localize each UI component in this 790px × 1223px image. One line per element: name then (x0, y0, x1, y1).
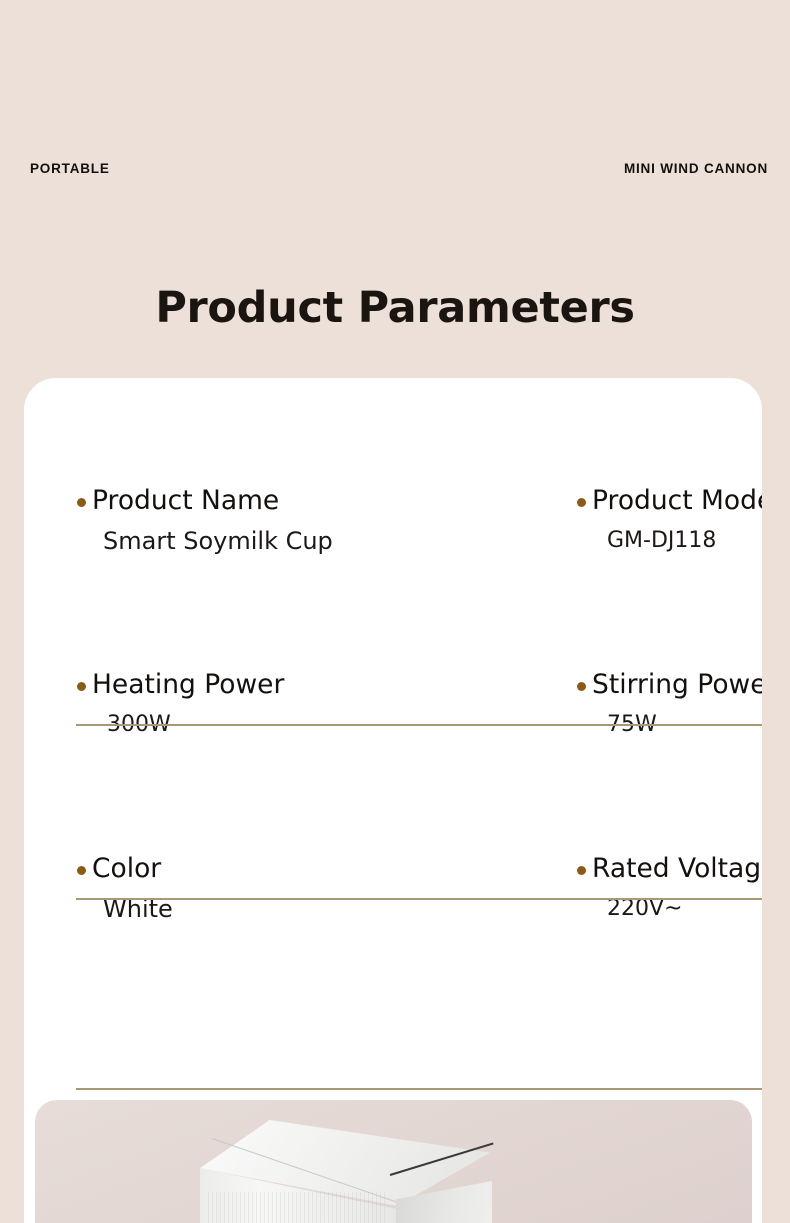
parameter-label: Color (77, 852, 395, 886)
parameter-value: GM-DJ118 (577, 525, 740, 557)
box-corrugation-texture (208, 1192, 388, 1223)
parameter-cell-product-name: Product Name Smart Soymilk Cup (50, 478, 395, 662)
parameter-label: Heating Power (77, 668, 395, 702)
row-divider (76, 898, 762, 900)
parameter-label-text: Color (92, 853, 161, 884)
parameter-label-text: Product Model (592, 485, 762, 516)
bullet-icon (77, 498, 86, 507)
product-photo (35, 1100, 752, 1223)
eyebrow-label-left: PORTABLE (30, 158, 110, 180)
parameter-label: Rated Voltage (577, 852, 740, 886)
row-divider (76, 1088, 762, 1090)
parameter-value: Smart Soymilk Cup (77, 525, 395, 557)
table-row: Heating Power 300W Stirring Power 75W (50, 662, 740, 846)
bullet-icon (577, 866, 586, 875)
page-title: Product Parameters (0, 282, 790, 334)
eyebrow-label-right: MINI WIND CANNON (624, 158, 768, 180)
parameter-label: Product Name (77, 484, 395, 518)
parameter-cell-heating-power: Heating Power 300W (50, 662, 395, 846)
table-row: Color White Rated Voltage 220V~ (50, 846, 740, 1030)
product-box-illustration (200, 1120, 530, 1223)
parameter-cell-product-model: Product Model GM-DJ118 (395, 478, 740, 662)
bullet-icon (77, 682, 86, 691)
bullet-icon (577, 682, 586, 691)
bullet-icon (77, 866, 86, 875)
parameter-label-text: Stirring Power (592, 669, 762, 700)
product-parameters-card: Product Name Smart Soymilk Cup Product M… (24, 378, 762, 1223)
parameters-table: Product Name Smart Soymilk Cup Product M… (50, 478, 740, 1030)
parameter-cell-stirring-power: Stirring Power 75W (395, 662, 740, 846)
header-eyebrow-row: PORTABLE MINI WIND CANNON (0, 158, 790, 180)
parameter-label-text: Product Name (92, 485, 279, 516)
parameter-label: Product Model (577, 484, 740, 518)
parameter-cell-rated-voltage: Rated Voltage 220V~ (395, 846, 740, 1030)
row-divider (76, 724, 762, 726)
parameter-cell-color: Color White (50, 846, 395, 1030)
parameter-label: Stirring Power (577, 668, 740, 702)
table-row: Product Name Smart Soymilk Cup Product M… (50, 478, 740, 662)
parameter-label-text: Heating Power (92, 669, 284, 700)
bullet-icon (577, 498, 586, 507)
parameter-label-text: Rated Voltage (592, 853, 762, 884)
